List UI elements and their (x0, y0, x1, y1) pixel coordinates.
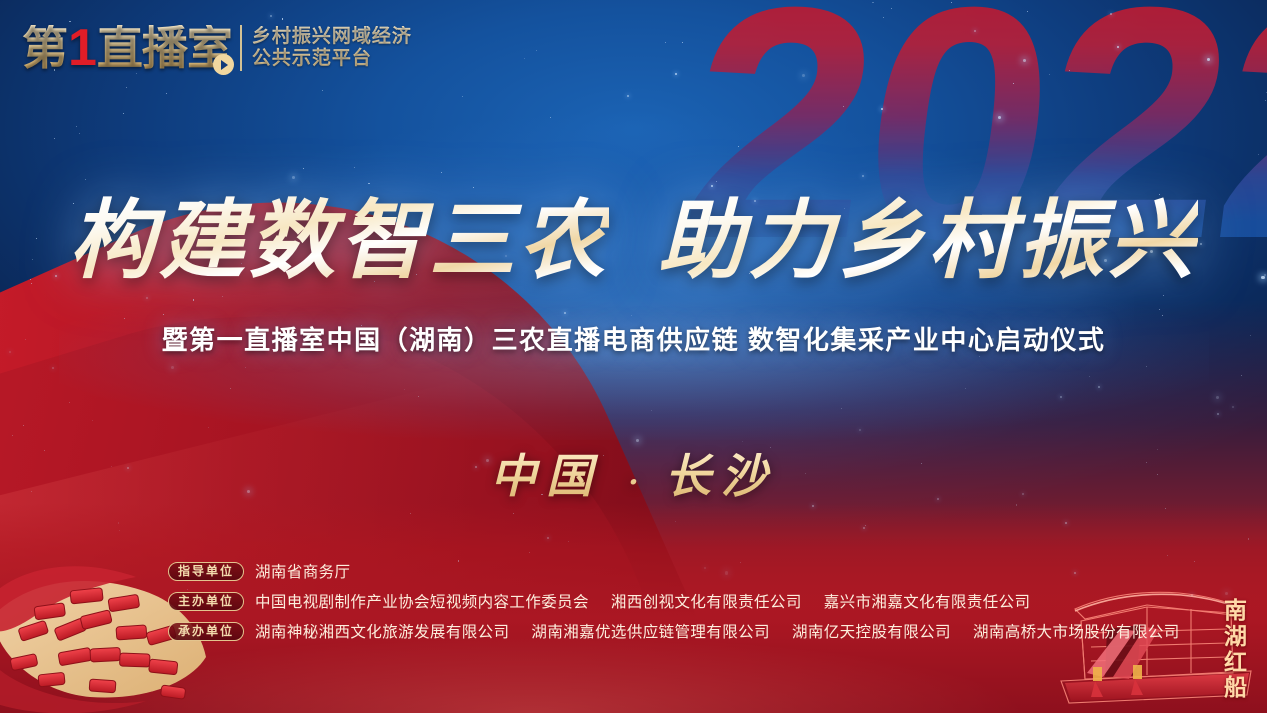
brand-number: 1 (68, 22, 96, 74)
brand-tagline: 乡村振兴网域经济 公共示范平台 (252, 26, 412, 71)
location-city: 长沙 (665, 449, 777, 503)
credit-org: 湖南省商务厅 (255, 560, 350, 582)
brand-prefix: 第 (22, 25, 67, 71)
location-country: 中国 (490, 449, 602, 503)
brand-suffix-text: 直播室 (97, 22, 232, 74)
event-location: 中国 · 长沙 (0, 440, 1267, 506)
credit-badge: 主办单位 (168, 592, 244, 611)
brand-logo-wordmark: 第 1 直播室 (22, 22, 232, 74)
logo-divider (240, 25, 242, 71)
brand-suffix: 直播室 (97, 25, 232, 71)
event-subtitle: 暨第一直播室中国（湖南）三农直播电商供应链 数智化集采产业中心启动仪式 (0, 320, 1267, 357)
credit-org: 湖南湘嘉优选供应链管理有限公司 (531, 620, 770, 642)
credit-org-list: 中国电视剧制作产业协会短视频内容工作委员会湘西创视文化有限责任公司嘉兴市湘嘉文化… (255, 590, 1030, 612)
credit-org-list: 湖南神秘湘西文化旅游发展有限公司湖南湘嘉优选供应链管理有限公司湖南亿天控股有限公… (255, 620, 1180, 642)
credit-row: 主办单位中国电视剧制作产业协会短视频内容工作委员会湘西创视文化有限责任公司嘉兴市… (168, 586, 1180, 616)
main-title-part2: 助力乡村振兴 (658, 196, 1198, 286)
main-title: 构建数智三农 助力乡村振兴 (0, 196, 1267, 286)
credit-badge: 承办单位 (168, 622, 244, 641)
credit-org: 湖南神秘湘西文化旅游发展有限公司 (255, 620, 509, 642)
brand-logo[interactable]: 第 1 直播室 乡村振兴网域经济 公共示范平台 (22, 22, 412, 74)
boat-label-char: 船 (1219, 675, 1253, 701)
credit-row: 承办单位湖南神秘湘西文化旅游发展有限公司湖南湘嘉优选供应链管理有限公司湖南亿天控… (168, 616, 1180, 646)
boat-label-char: 湖 (1219, 624, 1253, 650)
credit-org: 湖南亿天控股有限公司 (792, 620, 951, 642)
poster-canvas: 2022 第 1 直播室 乡村振兴网域经济 公共示范平台 构建数智三农 助力乡村… (0, 0, 1267, 713)
brand-number-text: 1 (68, 19, 96, 77)
boat-label-char: 南 (1219, 598, 1253, 624)
boat-label: 南湖红船 (1219, 598, 1253, 701)
boat-label-char: 红 (1219, 650, 1253, 676)
credit-org: 中国电视剧制作产业协会短视频内容工作委员会 (255, 590, 589, 612)
credits-block: 指导单位湖南省商务厅主办单位中国电视剧制作产业协会短视频内容工作委员会湘西创视文… (168, 556, 1180, 646)
main-title-part1: 构建数智三农 (69, 196, 609, 286)
credit-row: 指导单位湖南省商务厅 (168, 556, 1180, 586)
location-separator: · (628, 465, 638, 500)
brand-tagline-line2: 公共示范平台 (252, 48, 412, 70)
credit-org-list: 湖南省商务厅 (255, 560, 350, 582)
brand-tagline-line1: 乡村振兴网域经济 (252, 26, 412, 48)
play-icon (213, 54, 234, 75)
credit-org: 湖南高桥大市场股份有限公司 (973, 620, 1180, 642)
credit-org: 嘉兴市湘嘉文化有限责任公司 (824, 590, 1031, 612)
credit-org: 湘西创视文化有限责任公司 (611, 590, 802, 612)
credit-badge: 指导单位 (168, 562, 244, 581)
